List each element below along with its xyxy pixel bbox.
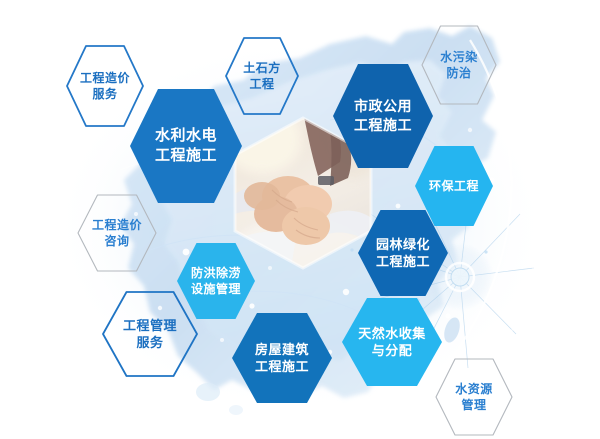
background-layer — [0, 0, 600, 439]
infographic-canvas: 工程造价服务土石方工程水污染防治市政公用工程施工水利水电工程施工环保工程工程造价… — [0, 0, 600, 439]
